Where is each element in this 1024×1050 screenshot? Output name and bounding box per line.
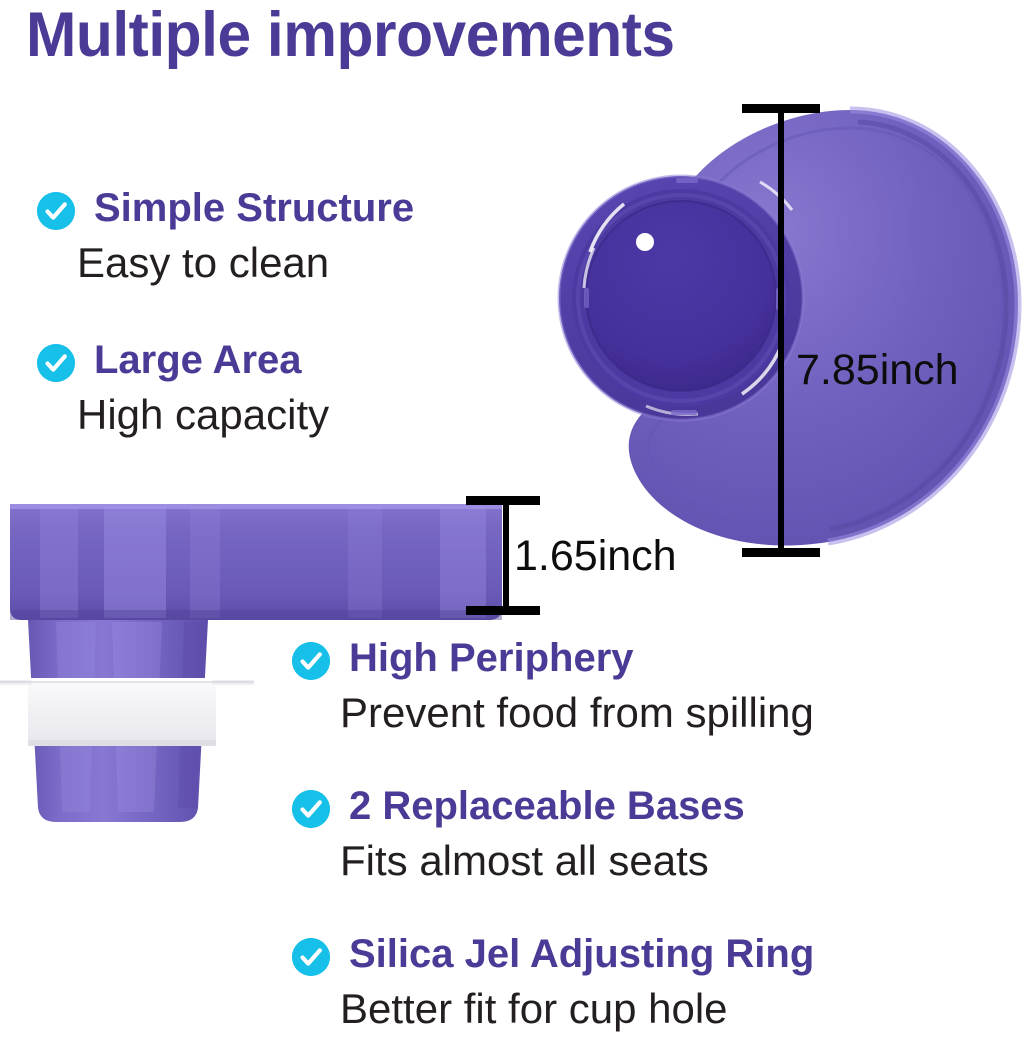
feature-heading: 2 Replaceable Bases	[349, 780, 745, 832]
feature-subtext: Easy to clean	[77, 236, 329, 290]
feature-subtext: Prevent food from spilling	[340, 686, 814, 740]
feature-heading: Silica Jel Adjusting Ring	[349, 928, 814, 980]
silicone-adjusting-ring	[28, 678, 216, 746]
feature-subtext: High capacity	[77, 388, 329, 442]
feature-heading: Simple Structure	[94, 182, 414, 234]
check-circle-icon	[292, 642, 330, 680]
dimension-cap-thickness-bottom	[466, 606, 540, 615]
dimension-line-thickness	[503, 500, 509, 610]
check-circle-icon	[292, 790, 330, 828]
feature-subtext: Better fit for cup hole	[340, 982, 728, 1036]
check-circle-icon	[37, 192, 75, 230]
feature-subtext: Fits almost all seats	[340, 834, 709, 888]
tray-top-view-image	[528, 92, 1024, 562]
page-title: Multiple improvements	[26, 2, 948, 68]
dimension-label-diameter: 7.85inch	[796, 347, 959, 393]
check-circle-icon	[37, 344, 75, 382]
tray-slab	[10, 504, 502, 620]
check-circle-icon	[292, 938, 330, 976]
feature-heading: Large Area	[94, 334, 302, 386]
dimension-line-diameter	[778, 108, 784, 554]
infographic-page: Multiple improvements	[0, 0, 1024, 1050]
dimension-cap-bottom	[742, 548, 820, 557]
drain-hole	[636, 233, 654, 251]
dimension-label-thickness: 1.65inch	[514, 533, 677, 579]
feature-heading: High Periphery	[349, 632, 634, 684]
